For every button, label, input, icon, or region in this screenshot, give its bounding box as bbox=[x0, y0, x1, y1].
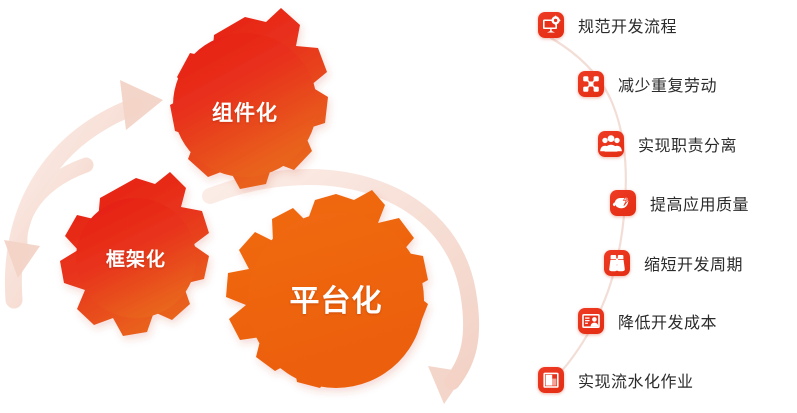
list-item-label: 实现流水化作业 bbox=[578, 368, 694, 392]
list-item[interactable]: 实现流水化作业 bbox=[538, 367, 694, 393]
list-item[interactable]: 实现职责分离 bbox=[598, 131, 737, 157]
list-item[interactable]: 降低开发成本 bbox=[578, 308, 717, 334]
list-item-label: 降低开发成本 bbox=[618, 309, 717, 333]
list-item[interactable]: 提高应用质量 bbox=[610, 190, 749, 216]
gear-framework[interactable] bbox=[60, 172, 209, 336]
list-item-label: 规范开发流程 bbox=[578, 13, 677, 37]
list-item[interactable]: 减少重复劳动 bbox=[578, 71, 717, 97]
hand-lightning-icon bbox=[610, 190, 636, 216]
gear-cluster: 组件化 框架化 平台化 bbox=[0, 0, 530, 413]
gear-graphics bbox=[0, 0, 530, 413]
network-nodes-icon bbox=[578, 71, 604, 97]
list-item-label: 提高应用质量 bbox=[650, 191, 749, 215]
document-page-icon bbox=[538, 367, 564, 393]
presentation-board-gear-icon bbox=[538, 12, 564, 38]
list-item[interactable]: 缩短开发周期 bbox=[604, 250, 743, 276]
list-item-label: 实现职责分离 bbox=[638, 132, 737, 156]
list-item[interactable]: 规范开发流程 bbox=[538, 12, 677, 38]
binoculars-icon bbox=[604, 250, 630, 276]
list-item-label: 减少重复劳动 bbox=[618, 72, 717, 96]
benefit-list: 规范开发流程 减少重复 bbox=[520, 0, 797, 413]
infographic-canvas: 组件化 框架化 平台化 bbox=[0, 0, 797, 413]
id-card-person-icon bbox=[578, 308, 604, 334]
gear-platform[interactable] bbox=[226, 190, 428, 388]
list-item-label: 缩短开发周期 bbox=[644, 251, 743, 275]
gear-component[interactable] bbox=[170, 0, 360, 189]
user-group-icon bbox=[598, 131, 624, 157]
